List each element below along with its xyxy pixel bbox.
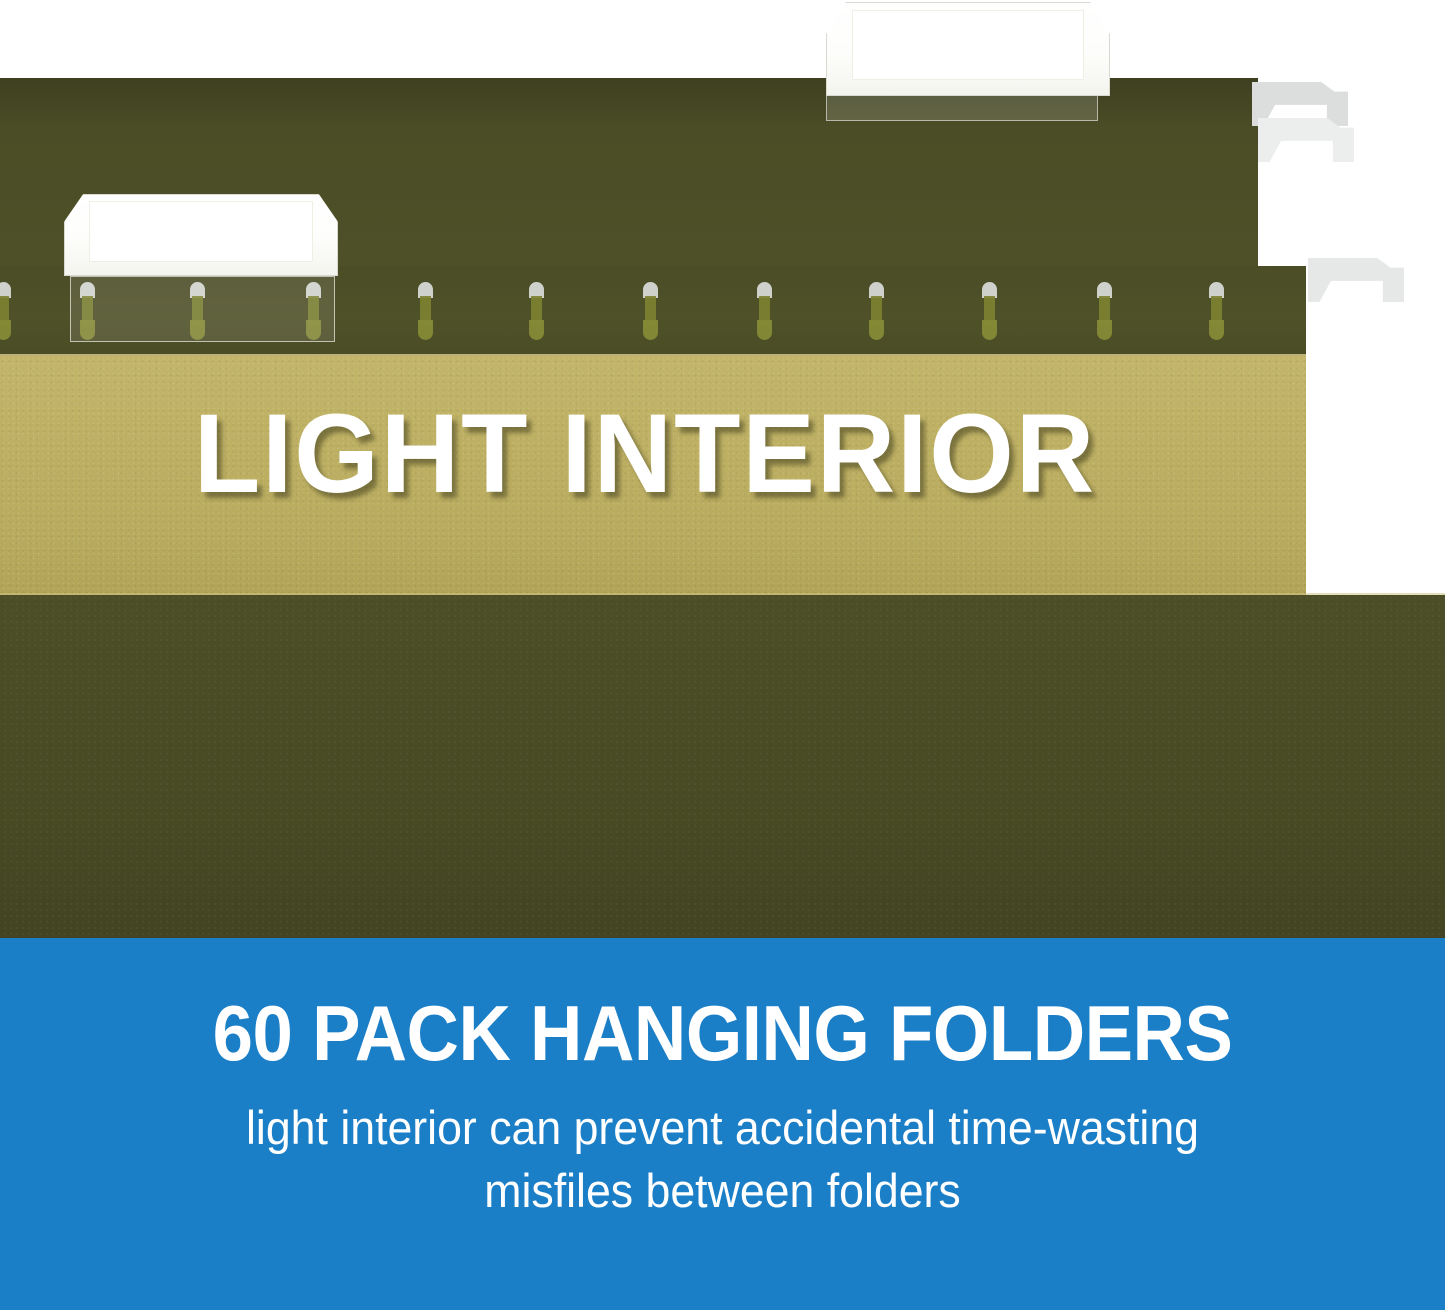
slot-knob [1209,320,1224,340]
slot-knob [0,320,11,340]
banner-headline: 60 PACK HANGING FOLDERS [51,938,1395,1074]
slot-knob [643,320,658,340]
left-index-tab-insert [89,201,312,262]
slot-knob [529,320,544,340]
banner-subtitle-line-2: misfiles between folders [36,1159,1409,1222]
rail-slot-marker [418,282,433,338]
rail-slot-marker [643,282,658,338]
rail-slot-marker [1209,282,1224,338]
rail-slot-marker [869,282,884,338]
top-index-tab[interactable] [826,2,1110,96]
banner-subtitle-line-1: light interior can prevent accidental ti… [36,1096,1409,1159]
light-interior-caption: LIGHT INTERIOR [19,398,1270,510]
marketing-banner: 60 PACK HANGING FOLDERS light interior c… [0,938,1445,1310]
slot-knob [757,320,772,340]
rail-slot-marker [757,282,772,338]
slot-knob [869,320,884,340]
top-tab-footprint [826,94,1098,121]
slot-knob [1097,320,1112,340]
left-index-tab[interactable] [64,194,338,276]
banner-subtitle: light interior can prevent accidental ti… [36,1074,1409,1222]
slot-knob [982,320,997,340]
left-tab-footprint [70,276,335,342]
product-image-stage: LIGHT INTERIOR 60 PACK HANGING FOLDERS l… [0,0,1445,1310]
rail-slot-marker [1097,282,1112,338]
folder-hook-icon [1308,258,1404,302]
top-index-tab-insert [852,10,1083,80]
product-photo: LIGHT INTERIOR [0,0,1445,938]
rail-slot-marker [529,282,544,338]
front-folder-lower-body [0,595,1445,938]
rail-slot-marker [982,282,997,338]
rail-slot-marker [0,282,11,338]
slot-knob [418,320,433,340]
